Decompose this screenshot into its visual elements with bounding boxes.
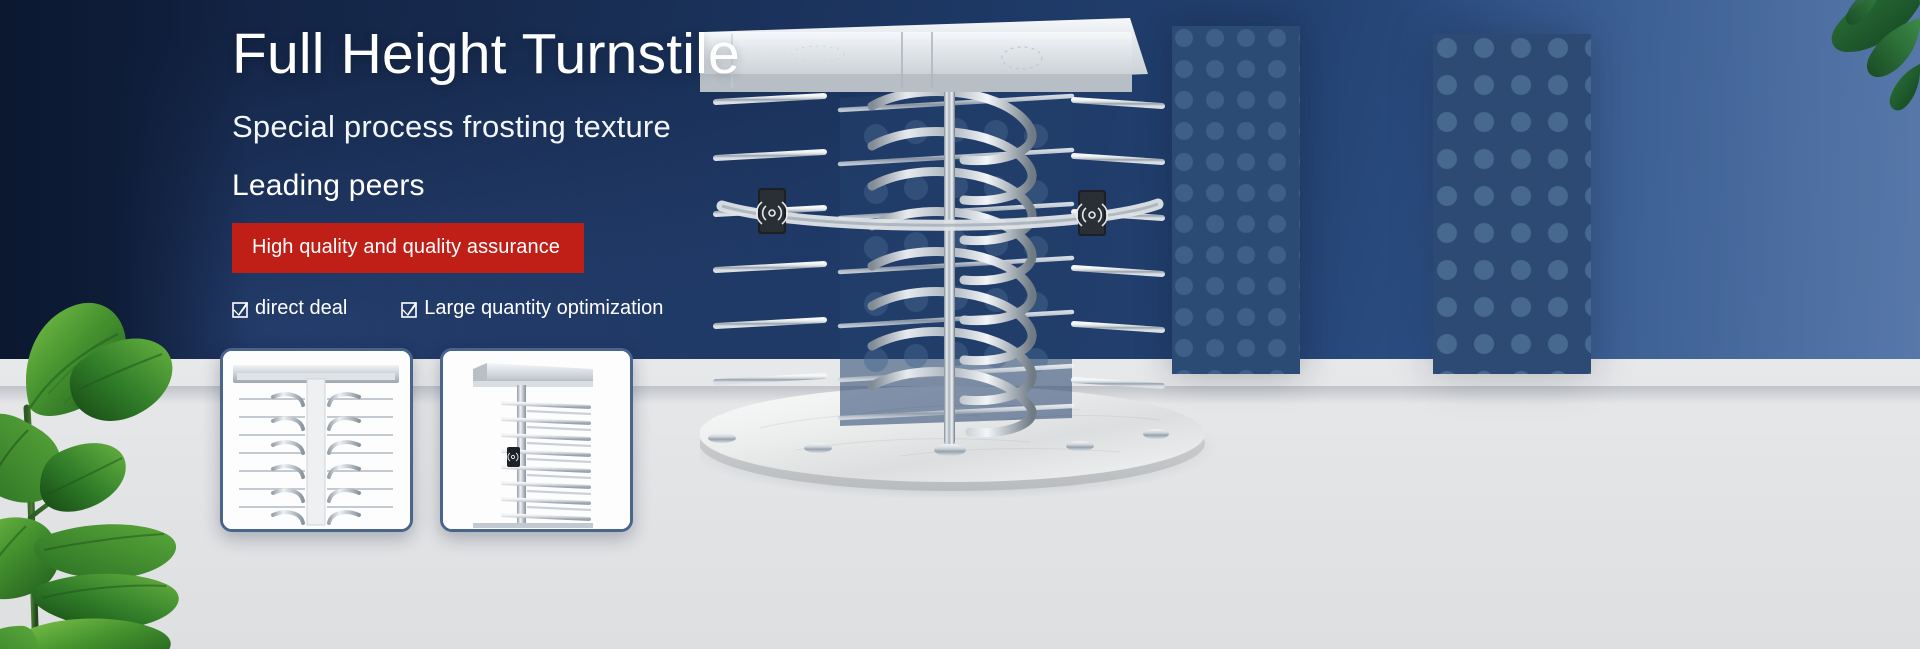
- perforated-dot-panel: [1433, 34, 1591, 374]
- thumbnail-turnstile-front[interactable]: [220, 348, 413, 532]
- quality-assurance-badge[interactable]: High quality and quality assurance: [232, 223, 584, 273]
- rfid-card-reader-right: [1077, 190, 1108, 236]
- page-title: Full Height Turnstile: [232, 26, 952, 83]
- feature-item-large-quantity: Large quantity optimization: [401, 297, 663, 320]
- banner-copy: Full Height Turnstile Special process fr…: [232, 26, 952, 320]
- subtitle-primary: Special process frosting texture: [232, 109, 952, 145]
- feature-label: Large quantity optimization: [424, 297, 663, 320]
- feature-list: direct deal Large quantity optimization: [232, 297, 952, 320]
- thumbnail-turnstile-angle[interactable]: [440, 348, 633, 532]
- checkbox-checked-icon: [232, 301, 248, 317]
- subtitle-secondary: Leading peers: [232, 169, 952, 203]
- feature-item-direct-deal: direct deal: [232, 297, 347, 320]
- thumbnail-gallery: [220, 348, 633, 532]
- checkbox-checked-icon: [401, 301, 417, 317]
- feature-label: direct deal: [255, 297, 347, 320]
- product-banner: Full Height Turnstile Special process fr…: [0, 0, 1920, 649]
